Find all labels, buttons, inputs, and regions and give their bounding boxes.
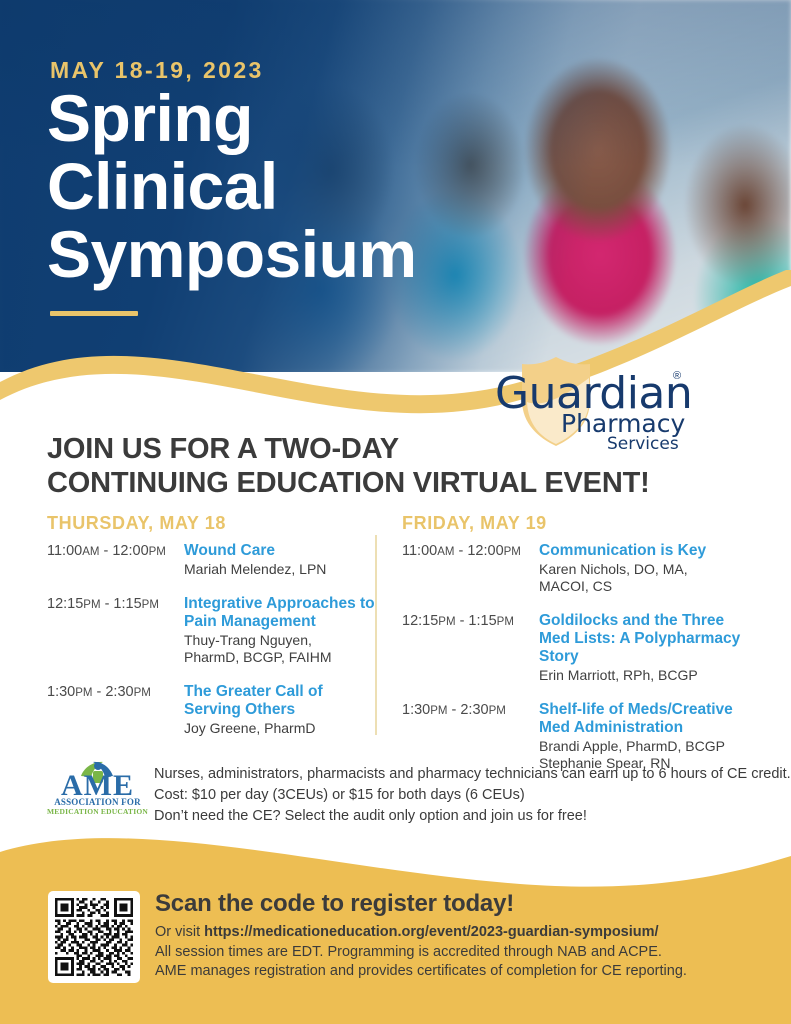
registered-trademark-icon: ®: [673, 370, 681, 382]
time-end: - 1:15: [456, 613, 497, 629]
register-heading: Scan the code to register today!: [155, 890, 514, 918]
session-body: The Greater Call of Serving Others Joy G…: [184, 683, 377, 737]
day-heading-friday: FRIDAY, MAY 19: [402, 513, 747, 534]
time-end-period: PM: [489, 705, 506, 717]
session-body: Wound Care Mariah Melendez, LPN: [184, 542, 377, 578]
time-end-period: PM: [497, 616, 514, 628]
speaker-line: Brandi Apple, PharmD, BCGP: [539, 738, 747, 755]
ame-logo: AME ASSOCIATION FOR MEDICATION EDUCATION: [45, 761, 150, 817]
title-line-3: Symposium: [47, 220, 417, 288]
register-url[interactable]: https://medicationeducation.org/event/20…: [204, 924, 658, 940]
session-title: Integrative Approaches to Pain Managemen…: [184, 595, 377, 631]
time-start-period: AM: [82, 546, 99, 558]
qr-code[interactable]: [48, 891, 140, 983]
session-time: 11:00AM - 12:00PM: [402, 542, 539, 595]
title-underline-rule: [50, 311, 138, 316]
ame-tagline-line-2: MEDICATION EDUCATION: [45, 807, 150, 816]
schedule-column-friday: FRIDAY, MAY 19 11:00AM - 12:00PM Communi…: [402, 513, 747, 789]
time-start: 12:15: [47, 596, 83, 612]
ce-info-line-3: Don’t need the CE? Select the audit only…: [154, 806, 754, 827]
time-end: - 2:30: [447, 702, 488, 718]
schedule-column-thursday: THURSDAY, MAY 18 11:00AM - 12:00PM Wound…: [47, 513, 377, 754]
register-url-prefix: Or visit: [155, 924, 204, 940]
title-line-2: Clinical: [47, 152, 417, 220]
time-end: - 2:30: [92, 684, 133, 700]
time-end: - 12:00: [99, 543, 148, 559]
time-start-period: PM: [430, 705, 447, 717]
time-end: - 1:15: [101, 596, 142, 612]
session-body: Shelf-life of Meds/Creative Med Administ…: [539, 701, 747, 772]
time-start: 11:00: [402, 543, 437, 559]
time-start-period: PM: [438, 616, 455, 628]
time-start: 1:30: [402, 702, 430, 718]
session-row: 1:30PM - 2:30PM Shelf-life of Meds/Creat…: [402, 701, 747, 772]
session-row: 11:00AM - 12:00PM Wound Care Mariah Mele…: [47, 542, 377, 578]
day-heading-thursday: THURSDAY, MAY 18: [47, 513, 377, 534]
session-row: 1:30PM - 2:30PM The Greater Call of Serv…: [47, 683, 377, 737]
time-start: 1:30: [47, 684, 75, 700]
time-end-period: PM: [142, 599, 159, 611]
register-note-1: All session times are EDT. Programming i…: [155, 943, 765, 963]
session-speaker: Karen Nichols, DO, MA, MACOI, CS: [539, 561, 747, 595]
session-speaker: Mariah Melendez, LPN: [184, 561, 377, 578]
headline-line-2: CONTINUING EDUCATION VIRTUAL EVENT!: [47, 466, 650, 500]
session-title: Goldilocks and the Three Med Lists: A Po…: [539, 612, 747, 666]
session-time: 1:30PM - 2:30PM: [402, 701, 539, 772]
headline-line-1: JOIN US FOR A TWO-DAY: [47, 432, 650, 466]
session-body: Integrative Approaches to Pain Managemen…: [184, 595, 377, 666]
ce-credit-info: Nurses, administrators, pharmacists and …: [154, 764, 754, 827]
session-title: Shelf-life of Meds/Creative Med Administ…: [539, 701, 747, 737]
time-end-period: PM: [134, 687, 151, 699]
register-note-2: AME manages registration and provides ce…: [155, 962, 765, 982]
event-dates: MAY 18-19, 2023: [50, 57, 264, 84]
speaker-line: PharmD, BCGP, FAIHM: [184, 649, 377, 666]
qr-code-icon[interactable]: [55, 898, 133, 976]
session-time: 12:15PM - 1:15PM: [402, 612, 539, 684]
speaker-line: MACOI, CS: [539, 578, 747, 595]
session-speaker: Thuy-Trang Nguyen, PharmD, BCGP, FAIHM: [184, 632, 377, 666]
session-row: 12:15PM - 1:15PM Integrative Approaches …: [47, 595, 377, 666]
main-headline: JOIN US FOR A TWO-DAY CONTINUING EDUCATI…: [47, 432, 650, 500]
session-speaker: Erin Marriott, RPh, BCGP: [539, 667, 747, 684]
session-speaker: Joy Greene, PharmD: [184, 720, 377, 737]
register-details: Or visit https://medicationeducation.org…: [155, 923, 765, 982]
session-title: Communication is Key: [539, 542, 747, 560]
title-line-1: Spring: [47, 84, 417, 152]
time-end-period: PM: [504, 546, 521, 558]
session-body: Communication is Key Karen Nichols, DO, …: [539, 542, 747, 595]
ce-info-line-1: Nurses, administrators, pharmacists and …: [154, 764, 754, 785]
speaker-line: Karen Nichols, DO, MA,: [539, 561, 747, 578]
register-url-line[interactable]: Or visit https://medicationeducation.org…: [155, 923, 765, 943]
session-row: 12:15PM - 1:15PM Goldilocks and the Thre…: [402, 612, 747, 684]
session-time: 11:00AM - 12:00PM: [47, 542, 184, 578]
ame-tagline-line-1: ASSOCIATION FOR: [45, 797, 150, 807]
time-start: 11:00: [47, 543, 82, 559]
event-flyer: MAY 18-19, 2023 Spring Clinical Symposiu…: [0, 0, 791, 1024]
session-title: Wound Care: [184, 542, 377, 560]
time-start-period: AM: [437, 546, 454, 558]
session-time: 12:15PM - 1:15PM: [47, 595, 184, 666]
time-start: 12:15: [402, 613, 438, 629]
time-end: - 12:00: [454, 543, 503, 559]
session-time: 1:30PM - 2:30PM: [47, 683, 184, 737]
time-end-period: PM: [149, 546, 166, 558]
time-start-period: PM: [83, 599, 100, 611]
page-title: Spring Clinical Symposium: [47, 84, 417, 288]
session-body: Goldilocks and the Three Med Lists: A Po…: [539, 612, 747, 684]
session-title: The Greater Call of Serving Others: [184, 683, 377, 719]
ce-info-line-2: Cost: $10 per day (3CEUs) or $15 for bot…: [154, 785, 754, 806]
session-row: 11:00AM - 12:00PM Communication is Key K…: [402, 542, 747, 595]
time-start-period: PM: [75, 687, 92, 699]
speaker-line: Thuy-Trang Nguyen,: [184, 632, 377, 649]
